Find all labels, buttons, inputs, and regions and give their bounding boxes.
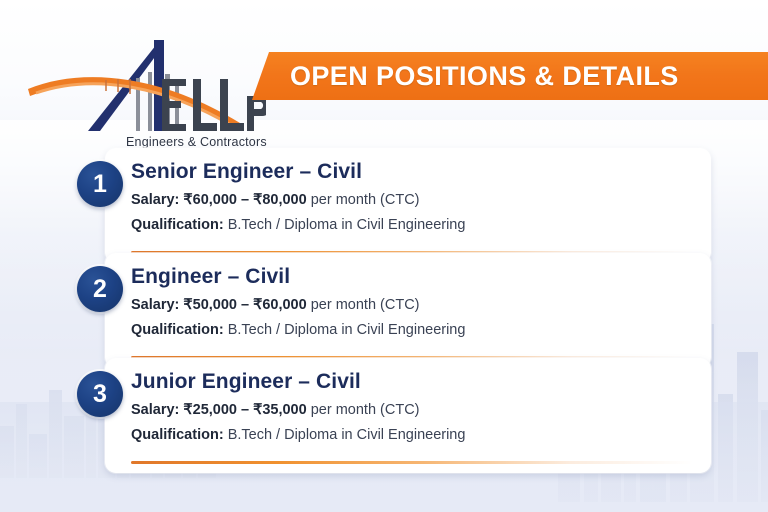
position-title: Senior Engineer – Civil [131,160,695,184]
position-badge-number: 3 [93,382,107,407]
position-card-body: Senior Engineer – Civil Salary: ₹60,000 … [105,148,711,242]
position-title: Junior Engineer – Civil [131,370,695,394]
position-salary-line: Salary: ₹25,000 – ₹35,000 per month (CTC… [131,402,695,419]
position-badge-number: 1 [93,172,107,197]
qualification-value: B.Tech / Diploma in Civil Engineering [228,427,466,443]
position-card-1[interactable]: Senior Engineer – Civil Salary: ₹60,000 … [105,148,711,263]
logo-mark-icon [14,16,266,142]
salary-suffix: per month (CTC) [311,297,420,313]
salary-range: ₹25,000 – ₹35,000 [183,402,306,418]
card-accent-rule [131,461,693,464]
position-qualification-line: Qualification: B.Tech / Diploma in Civil… [131,427,695,444]
header-banner: OPEN POSITIONS & DETAILS [252,52,768,100]
logo-tagline: Engineers & Contractors [126,135,267,149]
salary-range: ₹60,000 – ₹80,000 [183,192,306,208]
position-card-body: Junior Engineer – Civil Salary: ₹25,000 … [105,358,711,452]
position-card-2[interactable]: Engineer – Civil Salary: ₹50,000 – ₹60,0… [105,253,711,368]
qualification-label: Qualification: [131,427,224,443]
qualification-label: Qualification: [131,322,224,338]
salary-label: Salary: [131,192,179,208]
qualification-value: B.Tech / Diploma in Civil Engineering [228,217,466,233]
qualification-value: B.Tech / Diploma in Civil Engineering [228,322,466,338]
position-badge-number: 2 [93,277,107,302]
salary-suffix: per month (CTC) [311,402,420,418]
position-card-body: Engineer – Civil Salary: ₹50,000 – ₹60,0… [105,253,711,347]
position-qualification-line: Qualification: B.Tech / Diploma in Civil… [131,322,695,339]
position-badge-2: 2 [77,266,123,312]
poster-canvas: Engineers & Contractors OPEN POSITIONS &… [0,0,768,512]
salary-label: Salary: [131,402,179,418]
page-title: OPEN POSITIONS & DETAILS [290,61,679,92]
salary-range: ₹50,000 – ₹60,000 [183,297,306,313]
position-badge-3: 3 [77,371,123,417]
position-badge-1: 1 [77,161,123,207]
position-salary-line: Salary: ₹60,000 – ₹80,000 per month (CTC… [131,192,695,209]
company-logo: Engineers & Contractors [14,16,266,142]
position-qualification-line: Qualification: B.Tech / Diploma in Civil… [131,217,695,234]
position-salary-line: Salary: ₹50,000 – ₹60,000 per month (CTC… [131,297,695,314]
position-card-3[interactable]: Junior Engineer – Civil Salary: ₹25,000 … [105,358,711,473]
salary-suffix: per month (CTC) [311,192,420,208]
qualification-label: Qualification: [131,217,224,233]
salary-label: Salary: [131,297,179,313]
position-title: Engineer – Civil [131,265,695,289]
